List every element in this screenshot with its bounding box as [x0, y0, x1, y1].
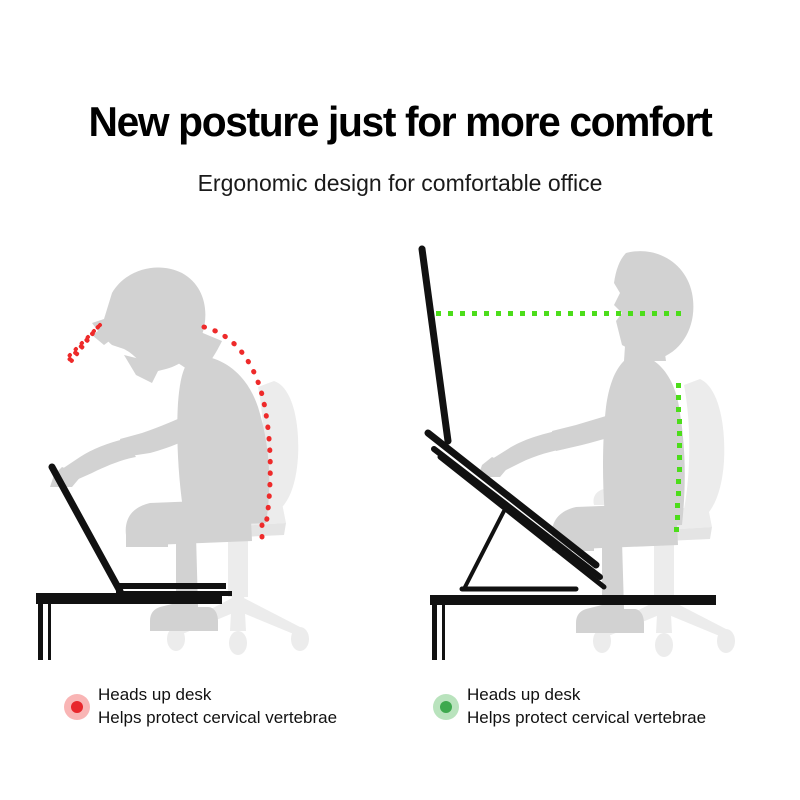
sight-line-cone: [66, 325, 100, 359]
page-subtitle: Ergonomic design for comfortable office: [0, 170, 800, 197]
desk-graphic: [430, 595, 716, 660]
caption-line-2: Helps protect cervical vertebrae: [98, 707, 337, 730]
bullet-dot-green: [433, 694, 459, 720]
page-title: New posture just for more comfort: [12, 98, 788, 146]
bullet-core: [71, 701, 83, 713]
caption-incorrect: Heads up desk Helps protect cervical ver…: [64, 679, 337, 735]
bullet-core: [440, 701, 452, 713]
sight-line-horizontal: [436, 311, 681, 316]
caption-correct: Heads up desk Helps protect cervical ver…: [433, 679, 706, 735]
incorrect-posture-illustration: [0, 235, 400, 660]
caption-line-1: Heads up desk: [98, 684, 337, 707]
correct-posture-illustration: [400, 235, 800, 660]
caption-line-1: Heads up desk: [467, 684, 706, 707]
poster-canvas: New posture just for more comfort Ergono…: [0, 0, 800, 800]
desk-top-edge: [36, 593, 222, 597]
caption-line-2: Helps protect cervical vertebrae: [467, 707, 706, 730]
bullet-dot-red: [64, 694, 90, 720]
